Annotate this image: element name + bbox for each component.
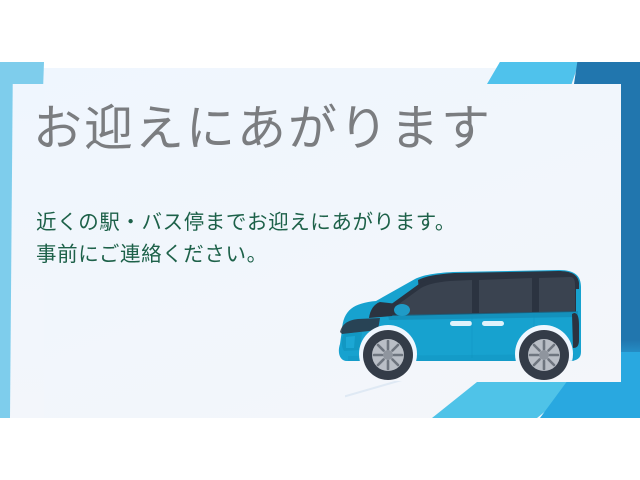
decor-right-edge-dark xyxy=(621,62,640,358)
front-wheel xyxy=(363,330,413,380)
subtitle-line-1: 近くの駅・バス停までお迎えにあがります。 xyxy=(36,206,456,238)
decor-top-right-light xyxy=(487,62,579,84)
minivan-illustration xyxy=(322,258,600,386)
decor-diagonal-hairline xyxy=(345,381,467,415)
rear-wheel xyxy=(519,330,569,380)
page-title: お迎えにあがります xyxy=(33,98,492,160)
banner-canvas: お迎えにあがります 近くの駅・バス停までお迎えにあがります。 事前にご連絡くださ… xyxy=(0,0,640,480)
decor-top-left-tab xyxy=(0,62,42,84)
